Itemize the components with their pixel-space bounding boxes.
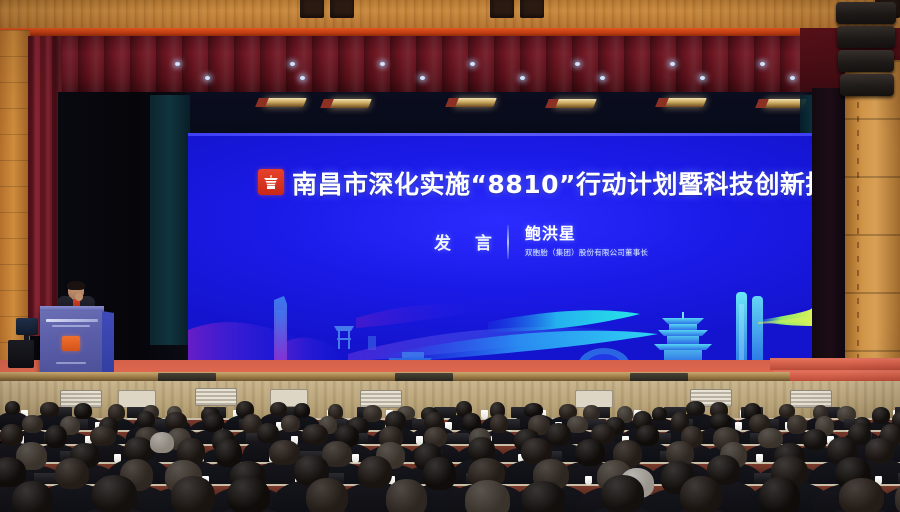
audience-head (306, 478, 348, 512)
stage-light-fixture (453, 98, 497, 107)
audience-head (269, 440, 300, 465)
audience-head (839, 478, 884, 512)
ceiling-wood-panel (0, 0, 900, 30)
audience-head (803, 429, 827, 450)
audience-cup (352, 454, 359, 463)
curtain-light (700, 76, 705, 80)
audience-head (227, 477, 270, 512)
curtain-light (420, 76, 425, 80)
audience-head (270, 402, 287, 416)
audience-head (22, 415, 43, 433)
audience-head-grey (150, 432, 174, 453)
curtain-light (520, 76, 525, 80)
audience-head (92, 475, 137, 512)
podium-footer-text (56, 362, 86, 364)
audience-head (74, 403, 92, 419)
podium-banner-text (46, 319, 98, 322)
audience-head (0, 424, 23, 446)
audience-head (171, 476, 215, 512)
audience-head (281, 415, 300, 432)
line-array-loudspeaker (836, 0, 900, 112)
audience-head (90, 426, 116, 446)
curtain-light (790, 76, 795, 80)
stage-curtain-top (0, 36, 900, 94)
curtain-light (380, 62, 385, 66)
audience-head (686, 401, 705, 416)
audience-head (40, 402, 59, 417)
curtain-light (575, 62, 580, 66)
curtain-light (600, 76, 605, 80)
ceiling-beam (0, 28, 900, 36)
audience-head (636, 425, 659, 446)
audience-head (386, 479, 427, 512)
audience-head (787, 415, 807, 434)
audience-head (55, 458, 89, 489)
stage-light-fixture (263, 98, 307, 107)
conference-photo-scene: 南昌市深化实施“8810”行动计划暨科技创新推进大会 发 言 鲍洪星 双胞胎（集… (0, 0, 900, 512)
ceiling-panel (302, 0, 324, 18)
audience-head (257, 423, 279, 443)
audience-head (423, 457, 456, 490)
wall-vent (195, 388, 237, 406)
audience-head (45, 425, 67, 448)
audience-head (137, 411, 155, 428)
speaker-affiliation: 双胞胎（集团）股份有限公司董事长 (525, 247, 648, 258)
podium-emblem-icon (62, 336, 80, 351)
audience-head (490, 414, 508, 433)
audience-head (865, 438, 894, 463)
screen-top-edge (188, 133, 812, 136)
speaker-block: 发 言 鲍洪星 双胞胎（集团）股份有限公司董事长 (434, 225, 648, 259)
audience-head (302, 424, 328, 445)
audience-head (521, 481, 565, 512)
curtain-light (175, 62, 180, 66)
audience-head (680, 476, 722, 512)
audience-head (465, 480, 510, 512)
right-black-drape (812, 88, 848, 388)
audience-head (358, 456, 392, 488)
ceiling-panel (492, 0, 514, 18)
left-teal-panel (150, 95, 190, 345)
led-display-screen: 南昌市深化实施“8810”行动计划暨科技创新推进大会 发 言 鲍洪星 双胞胎（集… (188, 133, 812, 366)
curtain-light (670, 62, 675, 66)
audience-head (546, 423, 571, 446)
audience-head (601, 475, 644, 512)
audience-cup (756, 454, 763, 463)
nanchang-pavilion-emblem-icon (258, 169, 284, 195)
ceiling-panel (332, 0, 354, 18)
speech-label: 发 言 (434, 225, 501, 254)
stage-equipment-box (8, 340, 34, 368)
stage-monitor (16, 318, 38, 335)
stage-light-fixture (553, 99, 597, 108)
curtain-light (290, 62, 295, 66)
audience-head (12, 481, 53, 512)
curtain-light (205, 76, 210, 80)
audience-head (575, 439, 605, 466)
stage-light-fixture (663, 98, 707, 107)
ceiling-panel (522, 0, 544, 18)
curtain-light (470, 62, 475, 66)
wall-vent (790, 390, 832, 408)
audience-head (872, 407, 890, 424)
conference-title: 南昌市深化实施“8810”行动计划暨科技创新推进大会 (292, 165, 812, 201)
audience-head (759, 477, 800, 512)
podium-subtext (52, 325, 90, 327)
audience-cup (585, 476, 592, 485)
curtain-light (300, 76, 305, 80)
audience-laptop (447, 433, 469, 444)
audience-head (5, 401, 20, 415)
audience-head (294, 403, 310, 418)
curtain-light (760, 62, 765, 66)
speaker-name: 鲍洪星 (525, 225, 648, 243)
stage-light-fixture (328, 99, 372, 108)
audience-head (652, 407, 667, 421)
speaker-divider (507, 225, 509, 259)
